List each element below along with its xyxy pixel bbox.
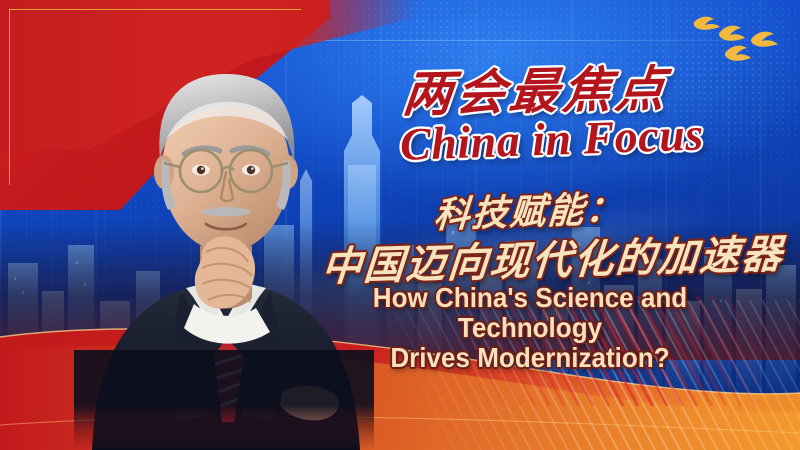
title-block: 两会最焦点 China in Focus 科技赋能： 中国迈向现代化的加速器 H… bbox=[0, 0, 800, 450]
episode-subtitle-en-line1: How China's Science and Technology bbox=[373, 282, 687, 343]
episode-subtitle-en-line2: Drives Modernization? bbox=[312, 343, 747, 373]
program-title-english: China in Focus bbox=[399, 106, 741, 171]
broadcast-title-card: 两会最焦点 China in Focus 科技赋能： 中国迈向现代化的加速器 H… bbox=[0, 0, 800, 450]
episode-subtitle-english: How China's Science and Technology Drive… bbox=[312, 283, 747, 373]
